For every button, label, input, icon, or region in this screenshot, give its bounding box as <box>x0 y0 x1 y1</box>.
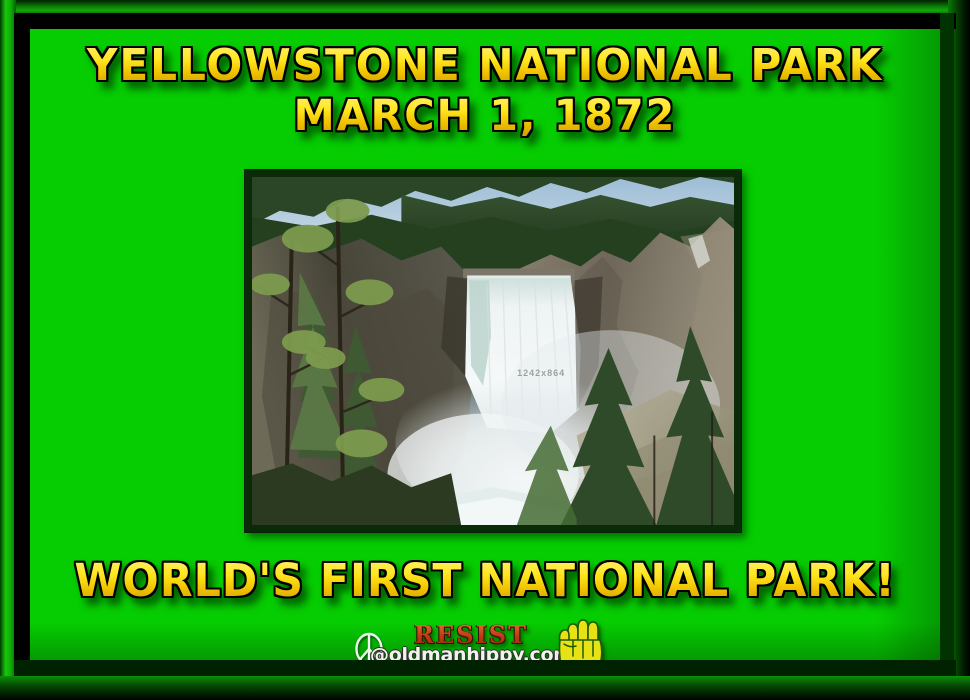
tagline-text: World's First National Park! <box>53 555 918 607</box>
waterfall-photo: 1242x864 <box>252 177 734 525</box>
frame-rule-bottom <box>14 660 956 676</box>
photo-dimension-watermark: 1242x864 <box>517 368 565 378</box>
frame-bevel-bottom <box>0 676 970 700</box>
headline-block: Yellowstone National Park March 1, 1872 <box>30 41 940 141</box>
frame-rule-right <box>940 13 954 673</box>
frame-rule-left <box>14 13 30 673</box>
frame-bevel-top <box>0 0 970 14</box>
frame-rule-top <box>14 13 956 29</box>
poster-inner-canvas: Yellowstone National Park March 1, 1872 <box>30 29 940 660</box>
tagline-block: World's First National Park! <box>30 555 940 607</box>
poster-canvas: Yellowstone National Park March 1, 1872 <box>0 0 970 700</box>
photo-frame: 1242x864 <box>244 169 742 533</box>
waterfall-illustration <box>252 177 734 525</box>
page-subtitle-date: March 1, 1872 <box>48 91 922 141</box>
page-title: Yellowstone National Park <box>48 41 922 91</box>
